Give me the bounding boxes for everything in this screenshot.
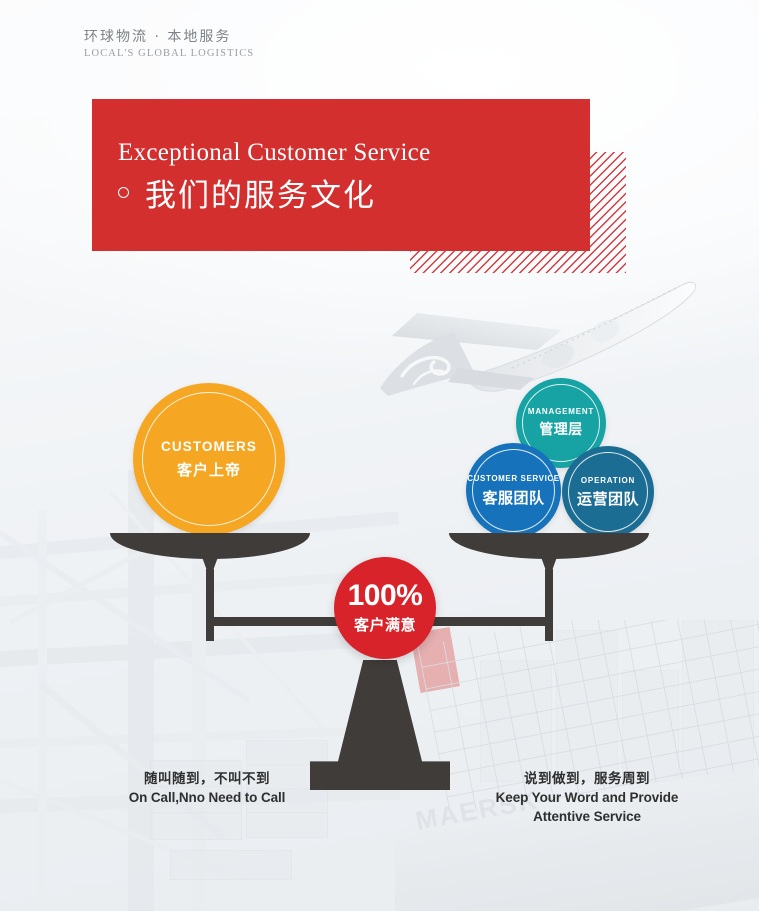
caption-left-en: On Call,Nno Need to Call xyxy=(112,790,302,807)
caption-right: 说到做到，服务周到 Keep Your Word and Provide Att… xyxy=(487,771,687,826)
pan-post-icon xyxy=(545,569,553,641)
bubble-operation-cn: 运营团队 xyxy=(577,488,639,509)
scale-pan-left xyxy=(110,533,310,643)
caption-right-en-line2: Attentive Service xyxy=(487,809,687,826)
scale-pan-right xyxy=(449,533,649,643)
bubble-customers-en: CUSTOMERS xyxy=(161,439,257,454)
caption-right-cn: 说到做到，服务周到 xyxy=(487,771,687,788)
caption-left: 随叫随到，不叫不到 On Call,Nno Need to Call xyxy=(112,771,302,807)
bubble-customer-service-en: CUSTOMER SERVICE xyxy=(467,474,559,484)
scale-pedestal xyxy=(310,660,450,790)
satisfaction-label: 客户满意 xyxy=(354,614,416,635)
bubble-customers-cn: 客户上帝 xyxy=(177,459,241,480)
caption-left-cn: 随叫随到，不叫不到 xyxy=(112,771,302,788)
satisfaction-badge[interactable]: 100% 客户满意 xyxy=(334,557,436,659)
bubble-management-cn: 管理层 xyxy=(539,419,583,439)
bubble-customer-service[interactable]: CUSTOMER SERVICE 客服团队 xyxy=(466,443,561,538)
bubble-management-en: MANAGEMENT xyxy=(528,407,594,416)
satisfaction-percent: 100% xyxy=(348,581,423,611)
pan-post-icon xyxy=(206,569,214,641)
pan-dish-icon xyxy=(449,533,649,559)
slide-canvas: MAERSK 环球物流 · 本地服务 LOCAL'S GLOBAL LO xyxy=(0,0,759,911)
bubble-operation[interactable]: OPERATION 运营团队 xyxy=(562,446,654,538)
bubble-customers[interactable]: CUSTOMERS 客户上帝 xyxy=(133,383,285,535)
caption-right-en-line1: Keep Your Word and Provide xyxy=(487,790,687,807)
pan-dish-icon xyxy=(110,533,310,559)
bubble-customer-service-cn: 客服团队 xyxy=(482,487,544,508)
bubble-operation-en: OPERATION xyxy=(581,476,635,485)
